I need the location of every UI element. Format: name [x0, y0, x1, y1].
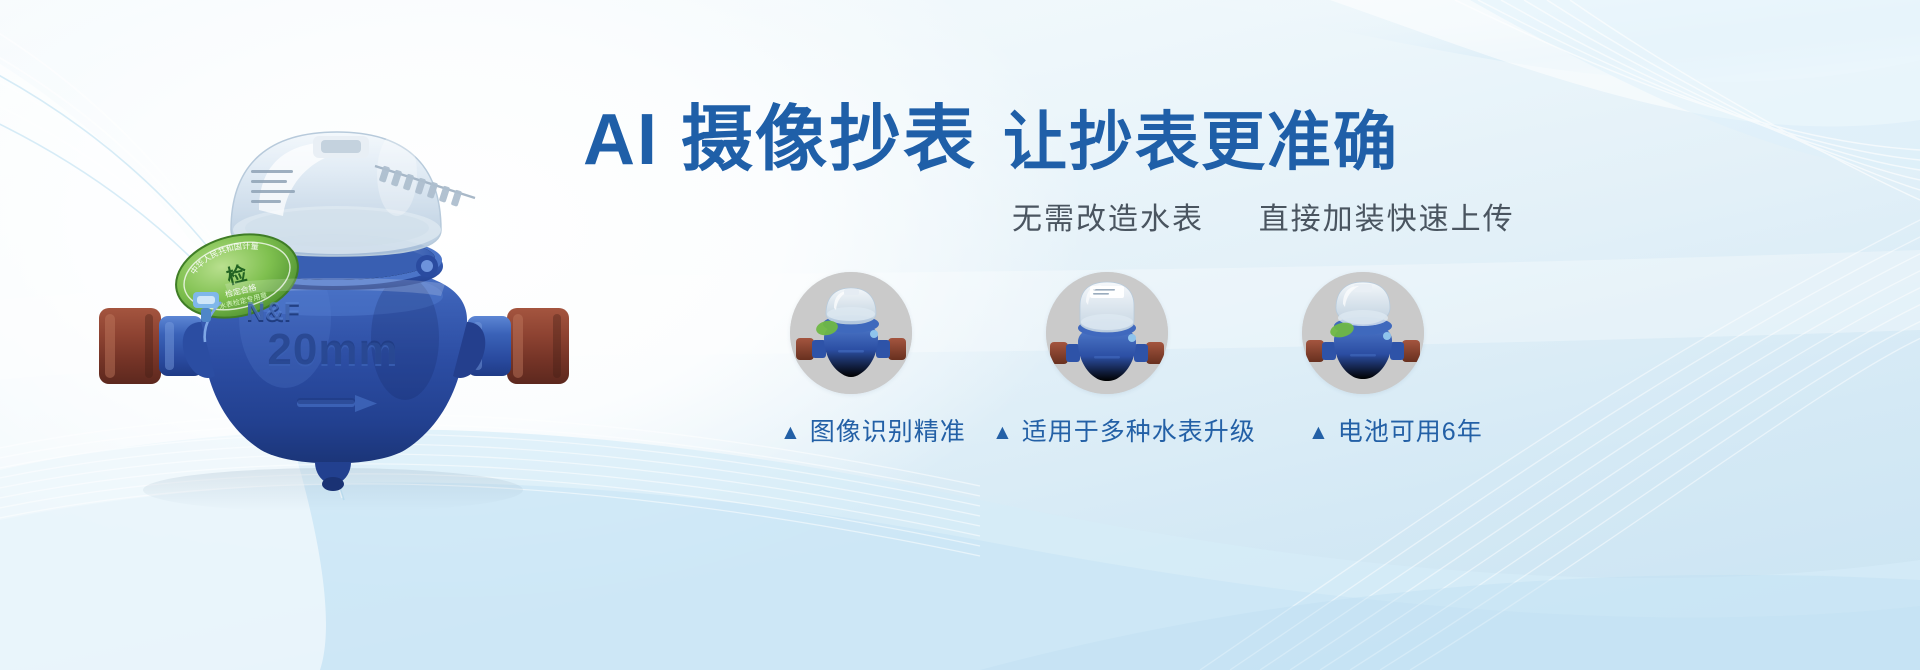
feature-caption-row: ▲图像识别精准 ▲适用于多种水表升级 ▲电池可用6年 [770, 420, 1530, 460]
feature-caption-1-label: 图像识别精准 [810, 418, 966, 446]
hero-product-image: 20mm 20mm [75, 70, 595, 510]
feature-caption-2: ▲适用于多种水表升级 [992, 420, 1256, 445]
feature-thumbnail-1[interactable] [790, 272, 912, 394]
triangle-marker-icon: ▲ [780, 422, 802, 443]
banner-subtitle: 无需改造水表 直接加装快速上传 [1012, 205, 1892, 235]
feature-caption-2-label: 适用于多种水表升级 [1022, 418, 1256, 446]
headline-sub-text: 让抄表更准确 [1003, 106, 1399, 178]
feature-item-meter-upgrade[interactable] [1032, 272, 1182, 394]
subtitle-right-text: 直接加装快速上传 [1259, 203, 1515, 236]
svg-text:20mm: 20mm [267, 325, 398, 374]
feature-caption-3: ▲电池可用6年 [1308, 420, 1483, 445]
subtitle-left-text: 无需改造水表 [1012, 203, 1204, 236]
triangle-marker-icon: ▲ [1308, 422, 1330, 443]
banner-headline: AI 摄像抄表让抄表更准确 [583, 104, 1883, 176]
svg-text:N&F: N&F [246, 296, 299, 326]
feature-caption-1: ▲图像识别精准 [780, 420, 966, 445]
feature-thumbnail-2[interactable] [1046, 272, 1168, 394]
feature-item-image-recognition[interactable] [776, 272, 926, 394]
headline-main-text: AI 摄像抄表 [583, 100, 977, 180]
triangle-marker-icon: ▲ [992, 422, 1014, 443]
feature-item-battery-life[interactable] [1288, 272, 1438, 394]
feature-caption-3-label: 电池可用6年 [1338, 418, 1483, 446]
feature-thumbnail-3[interactable] [1302, 272, 1424, 394]
product-banner: 20mm 20mm [0, 0, 1920, 670]
